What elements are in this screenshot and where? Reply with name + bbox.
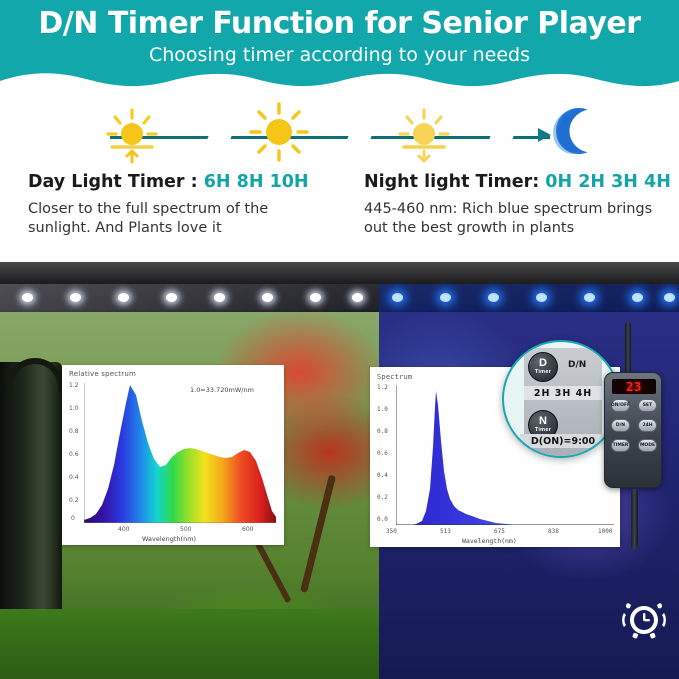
ytick: 0.6 — [69, 451, 79, 458]
led-white — [70, 293, 81, 302]
day-light-column: Day Light Timer : 6H 8H 10H Closer to th… — [28, 172, 328, 238]
ytick: 1.0 — [377, 406, 388, 413]
timeline-line — [110, 136, 550, 139]
day-light-label: Day Light Timer : — [28, 172, 204, 192]
led-blue — [632, 293, 643, 302]
d-on-readout: D(ON)=9:00 — [520, 434, 606, 448]
ytick: 0.8 — [377, 428, 388, 435]
ytick: 0.4 — [69, 474, 79, 481]
d-timer-letter: D — [539, 358, 547, 369]
xtick: 600 — [242, 526, 253, 533]
night-light-values: 0H 2H 3H 4H — [545, 172, 671, 192]
night-light-heading: Night light Timer: 0H 2H 3H 4H — [364, 172, 674, 192]
xtick: 838 — [548, 528, 559, 535]
timeline-gap — [498, 132, 515, 143]
display-digits: 23 — [626, 380, 641, 394]
controller-button-24h[interactable]: 24H — [638, 419, 657, 432]
night-light-body: 445-460 nm: Rich blue spectrum brings ou… — [364, 200, 674, 238]
wave-divider — [0, 67, 679, 92]
light-fixture-top — [0, 262, 679, 284]
led-blue — [488, 293, 499, 302]
controller-button-mode[interactable]: MODE — [638, 439, 657, 452]
night-light-label: Night light Timer: — [364, 172, 545, 192]
ytick: 0 — [71, 515, 75, 522]
led-white — [214, 293, 225, 302]
chart-title-spectrum: Spectrum — [377, 373, 412, 381]
led-blue — [536, 293, 547, 302]
controller-cable-lower — [631, 489, 638, 549]
xtick: 350 — [386, 528, 397, 535]
product-infographic: D/N Timer Function for Senior Player Cho… — [0, 0, 679, 679]
led-white — [262, 293, 273, 302]
page-title: D/N Timer Function for Senior Player — [0, 6, 679, 41]
d-timer-sub: Timer — [535, 370, 551, 376]
chart-title-relative-spectrum: Relative spectrum — [69, 370, 136, 378]
led-white — [352, 293, 363, 302]
n-timer-sub: Timer — [535, 428, 551, 434]
timeline-graphic — [0, 96, 679, 166]
led-white — [22, 293, 33, 302]
night-light-column: Night light Timer: 0H 2H 3H 4H 445-460 n… — [364, 172, 674, 238]
controller-cable-upper — [625, 322, 631, 374]
fixture-white-section — [0, 284, 379, 312]
sunset-icon — [392, 104, 456, 168]
ytick: 0.0 — [377, 516, 388, 523]
xtick: 400 — [118, 526, 129, 533]
n-timer-letter: N — [539, 416, 547, 427]
d-timer-button[interactable]: D Timer — [528, 352, 558, 382]
led-white — [166, 293, 177, 302]
led-white — [118, 293, 129, 302]
led-blue — [392, 293, 403, 302]
led-blue — [440, 293, 451, 302]
led-display: 23 — [612, 379, 656, 394]
hours-readout: 2H 3H 4H — [524, 386, 602, 400]
day-spectrum-chart: Relative spectrum 1.0=33.720mW/nm 1.2 1.… — [62, 365, 284, 545]
ytick: 1.0 — [69, 405, 79, 412]
sun-icon — [247, 100, 311, 164]
ytick: 0.8 — [69, 428, 79, 435]
alarm-clock-icon — [620, 596, 668, 644]
controller-button-dn[interactable]: D/N — [611, 419, 630, 432]
led-white — [310, 293, 321, 302]
led-blue — [664, 293, 675, 302]
ytick: 1.2 — [69, 382, 79, 389]
moon-stars-icon — [545, 102, 599, 160]
ytick: 1.2 — [377, 384, 388, 391]
controller-button-onoff[interactable]: ON/OFF — [611, 399, 630, 412]
ytick: 0.2 — [377, 494, 388, 501]
ytick: 0.4 — [377, 472, 388, 479]
xaxis-label: Wavelength(nm) — [462, 537, 517, 545]
foreground-grass — [0, 609, 379, 679]
led-blue — [584, 293, 595, 302]
xtick: 500 — [180, 526, 191, 533]
header-banner: D/N Timer Function for Senior Player Cho… — [0, 0, 679, 92]
dn-button-label[interactable]: D/N — [568, 360, 586, 370]
controller-button-set[interactable]: SET — [638, 399, 657, 412]
day-light-heading: Day Light Timer : 6H 8H 10H — [28, 172, 328, 192]
timer-controller[interactable]: 23 ON/OFF SET D/N 24H TIMER MODE — [604, 372, 662, 488]
day-light-body: Closer to the full spectrum of the sunli… — [28, 200, 328, 238]
timeline-gap — [216, 132, 233, 143]
ytick: 0.2 — [69, 497, 79, 504]
page-subtitle: Choosing timer according to your needs — [0, 44, 679, 66]
sunrise-icon — [100, 104, 164, 168]
xaxis-label: Wavelength(nm) — [142, 535, 196, 543]
day-light-values: 6H 8H 10H — [204, 172, 309, 192]
control-panel-magnifier: D Timer D/N N Timer 2H 3H 4H D(ON)=9:00 — [502, 340, 620, 458]
xtick: 675 — [494, 528, 505, 535]
xtick: 1000 — [598, 528, 612, 535]
ytick: 0.6 — [377, 450, 388, 457]
controller-button-timer[interactable]: TIMER — [611, 439, 630, 452]
product-photo: Relative spectrum 1.0=33.720mW/nm 1.2 1.… — [0, 262, 679, 679]
day-spectrum-plot — [84, 383, 276, 523]
xtick: 513 — [440, 528, 451, 535]
timeline-gap — [356, 132, 373, 143]
